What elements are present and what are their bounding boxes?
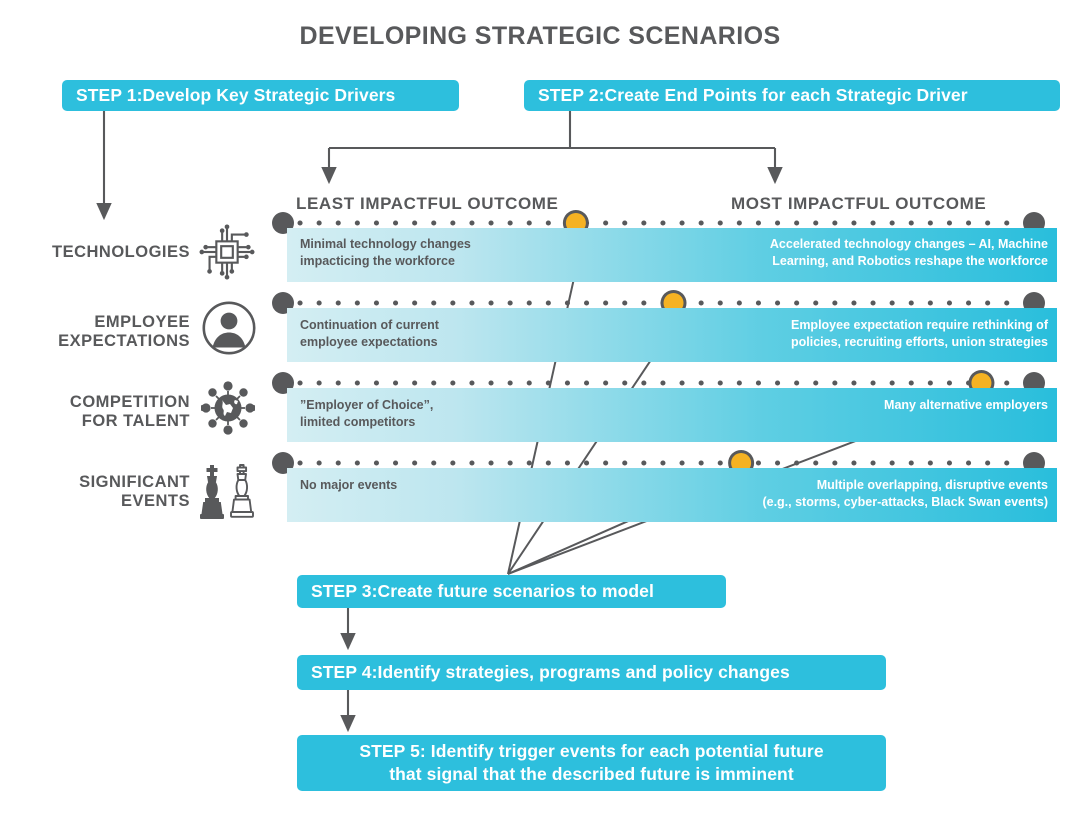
step-2-lead: STEP 2: (538, 85, 605, 106)
connector-step2-branch (329, 110, 775, 182)
step-5-box[interactable]: STEP 5: Identify trigger events for each… (297, 735, 886, 791)
driver-least-technologies: Minimal technology changes impacticing t… (300, 236, 471, 269)
chess-pieces-icon (198, 462, 260, 524)
step-1-text: Develop Key Strategic Drivers (143, 85, 396, 106)
driver-label-employee-expectations: EMPLOYEE EXPECTATIONS (10, 313, 190, 352)
step-4-box[interactable]: STEP 4: Identify strategies, programs an… (297, 655, 886, 690)
column-header-most: MOST IMPACTFUL OUTCOME (731, 194, 986, 214)
globe-network-icon (198, 378, 258, 438)
step-2-box[interactable]: STEP 2: Create End Points for each Strat… (524, 80, 1060, 111)
step-3-text: Create future scenarios to model (378, 581, 654, 602)
column-header-least: LEAST IMPACTFUL OUTCOME (296, 194, 559, 214)
page-title: DEVELOPING STRATEGIC SCENARIOS (0, 22, 1080, 51)
step-1-box[interactable]: STEP 1: Develop Key Strategic Drivers (62, 80, 459, 111)
microchip-icon (196, 221, 258, 283)
step-4-text: Identify strategies, programs and policy… (378, 662, 790, 683)
driver-label-competition-for-talent: COMPETITION FOR TALENT (10, 393, 190, 432)
step-3-box[interactable]: STEP 3: Create future scenarios to model (297, 575, 726, 608)
driver-least-significant-events: No major events (300, 477, 397, 494)
person-avatar-icon (201, 300, 257, 356)
step-5-lead: STEP 5: (359, 741, 426, 761)
step-3-lead: STEP 3: (311, 581, 378, 602)
step-5-text: Identify trigger events for each potenti… (389, 741, 823, 784)
step-4-lead: STEP 4: (311, 662, 378, 683)
driver-most-technologies: Accelerated technology changes – AI, Mac… (770, 236, 1048, 269)
step-1-lead: STEP 1: (76, 85, 143, 106)
driver-least-employee-expectations: Continuation of current employee expecta… (300, 317, 439, 350)
driver-label-significant-events: SIGNIFICANT EVENTS (10, 473, 190, 512)
driver-most-employee-expectations: Employee expectation require rethinking … (791, 317, 1048, 350)
step-2-text: Create End Points for each Strategic Dri… (605, 85, 968, 106)
driver-most-competition-for-talent: Many alternative employers (884, 397, 1048, 414)
diagram-canvas: DEVELOPING STRATEGIC SCENARIOS STEP 1: D… (0, 0, 1080, 827)
driver-most-significant-events: Multiple overlapping, disruptive events … (762, 477, 1048, 510)
driver-label-technologies: TECHNOLOGIES (10, 243, 190, 262)
driver-least-competition-for-talent: ”Employer of Choice”, limited competitor… (300, 397, 433, 430)
